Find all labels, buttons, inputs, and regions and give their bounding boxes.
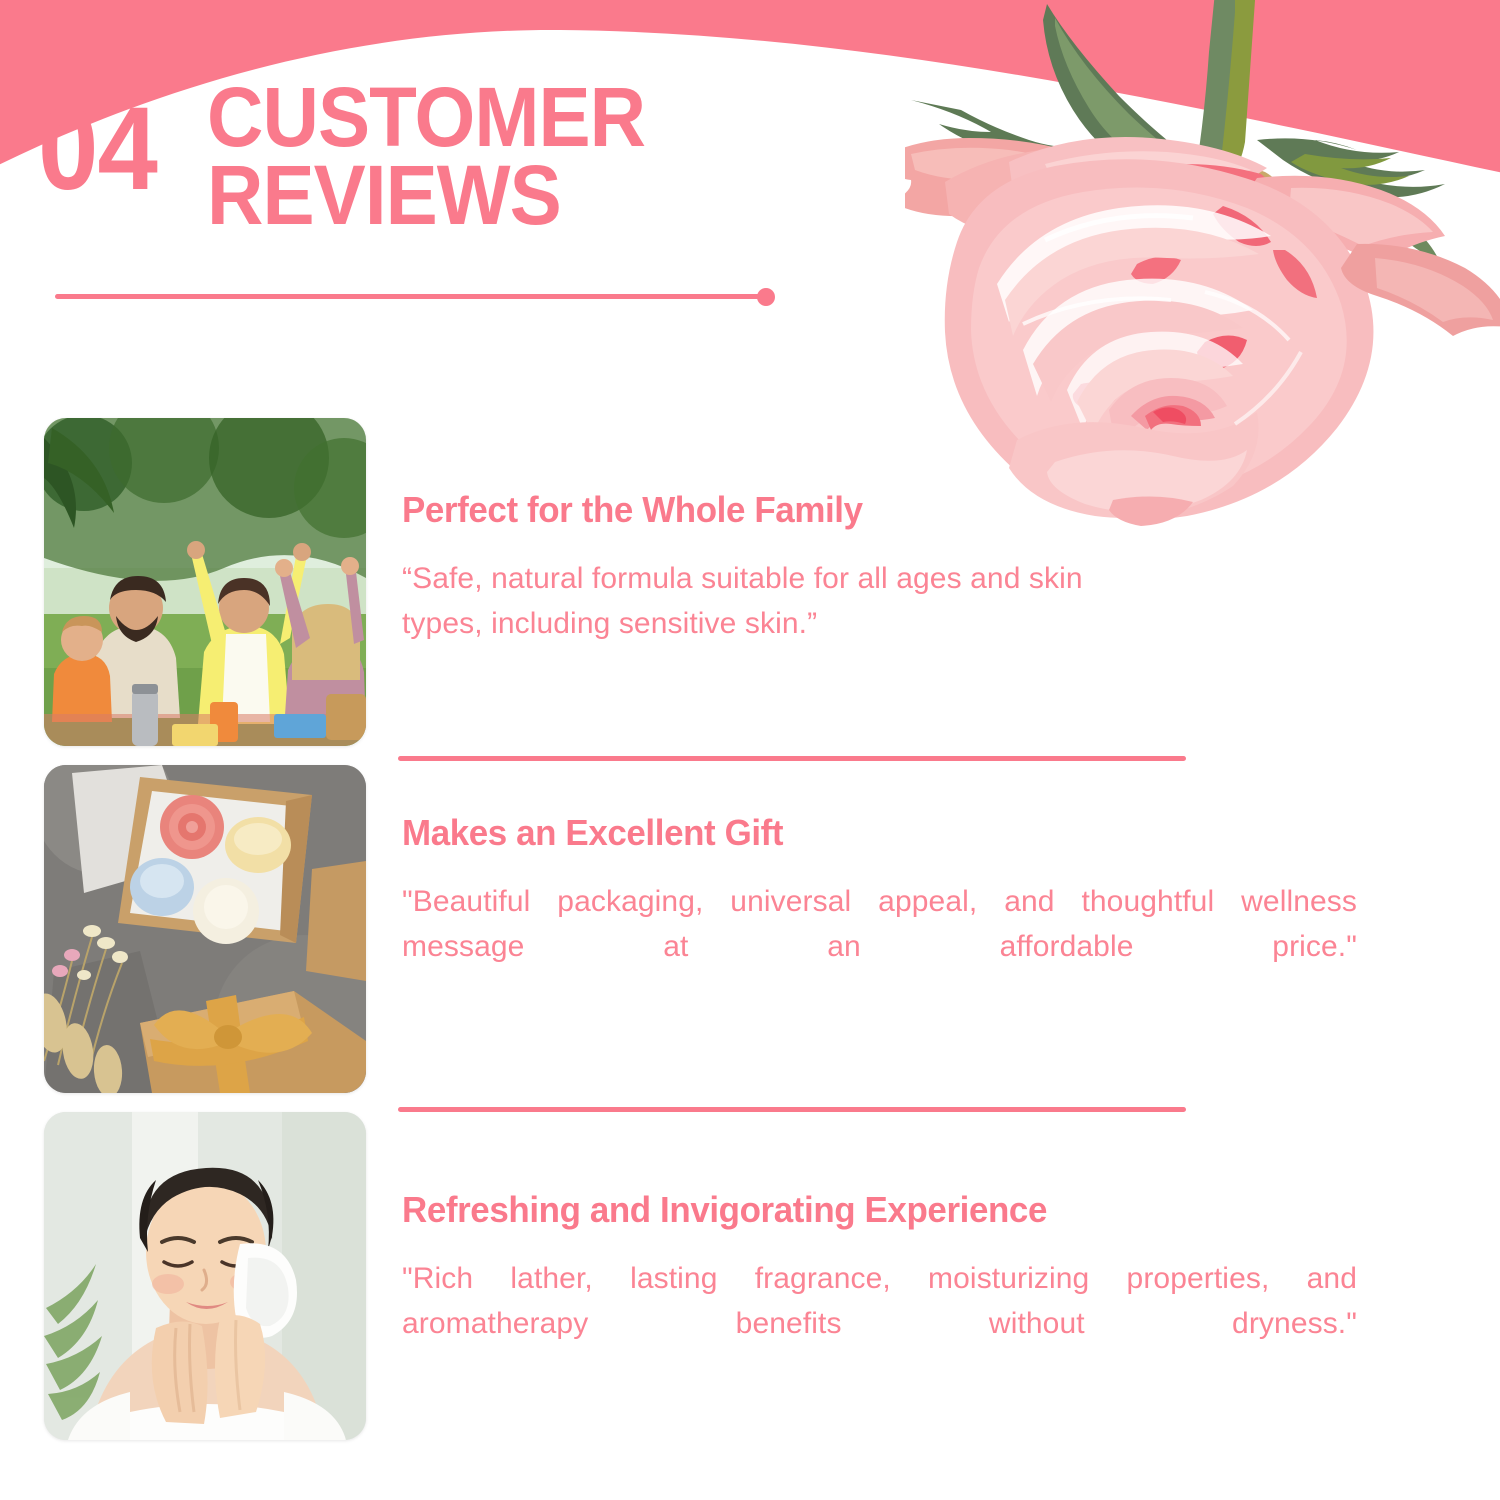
review-item-3: Refreshing and Invigorating Experience "… — [0, 1112, 1500, 1457]
accent-rule-bar — [55, 294, 767, 299]
review-item-1: Perfect for the Whole Family “Safe, natu… — [0, 418, 1500, 763]
review-heading-1: Perfect for the Whole Family — [402, 490, 1372, 530]
review-body-2: "Beautiful packaging, universal appeal, … — [402, 879, 1357, 1016]
review-heading-2: Makes an Excellent Gift — [402, 813, 1372, 853]
woman-skincare-towel-photo — [44, 1112, 366, 1440]
section-number: 04 — [38, 90, 157, 208]
review-body-3: "Rich lather, lasting fragrance, moistur… — [402, 1256, 1357, 1393]
page-title: CUSTOMER REVIEWS — [207, 78, 645, 234]
section-divider-2 — [398, 1107, 1186, 1112]
accent-dot — [757, 288, 775, 306]
accent-rule — [55, 292, 775, 301]
page-title-line-2: REVIEWS — [207, 156, 645, 234]
review-thumbnail-skincare[interactable] — [44, 1112, 366, 1440]
review-copy-1: Perfect for the Whole Family “Safe, natu… — [402, 490, 1402, 647]
soap-gift-box-photo — [44, 765, 366, 1093]
page-title-line-1: CUSTOMER — [207, 78, 645, 156]
section-divider-1 — [398, 756, 1186, 761]
review-body-1: “Safe, natural formula suitable for all … — [402, 556, 1102, 647]
review-item-2: Makes an Excellent Gift "Beautiful packa… — [0, 765, 1500, 1110]
family-picnic-photo — [44, 418, 366, 746]
page-header: 04 CUSTOMER REVIEWS — [38, 78, 678, 234]
review-copy-2: Makes an Excellent Gift "Beautiful packa… — [402, 813, 1402, 1015]
review-copy-3: Refreshing and Invigorating Experience "… — [402, 1190, 1402, 1392]
review-heading-3: Refreshing and Invigorating Experience — [402, 1190, 1372, 1230]
review-thumbnail-gift[interactable] — [44, 765, 366, 1093]
slide-canvas: 04 CUSTOMER REVIEWS — [0, 0, 1500, 1500]
review-thumbnail-family[interactable] — [44, 418, 366, 746]
